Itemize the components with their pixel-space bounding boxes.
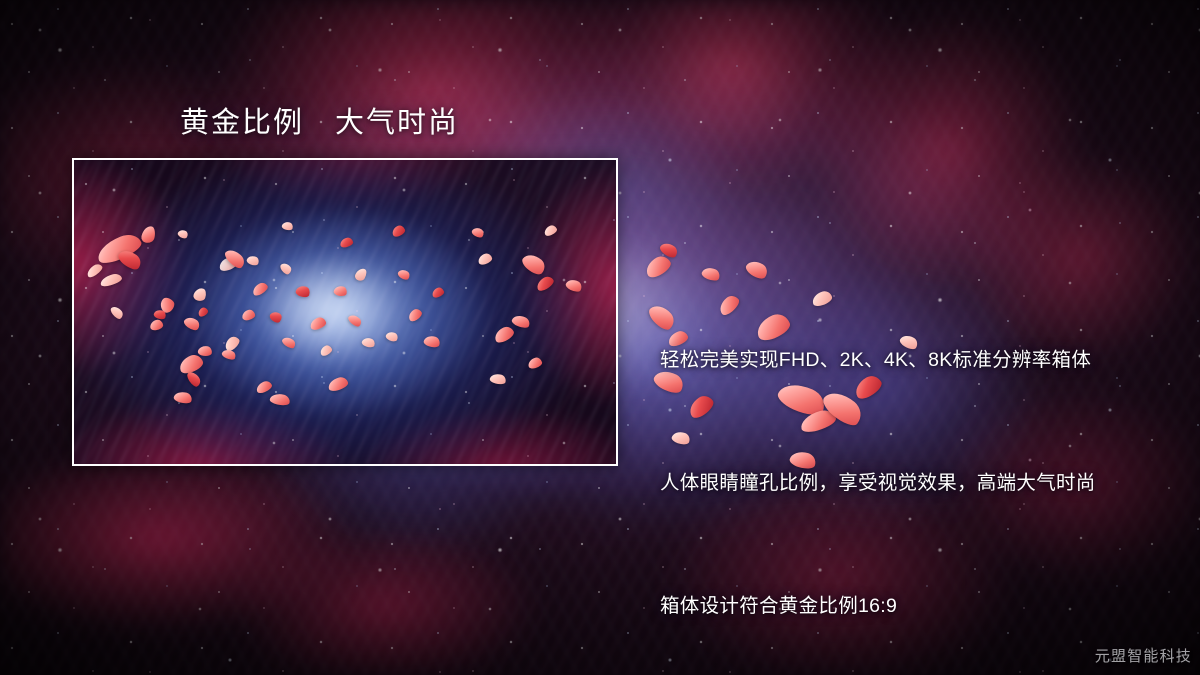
panel-core-glow: [74, 160, 616, 464]
body-line-3: 箱体设计符合黄金比例16:9: [660, 586, 1096, 627]
watermark: 元盟智能科技: [1095, 645, 1192, 666]
body-line-2: 人体眼睛瞳孔比例，享受视觉效果，高端大气时尚: [660, 463, 1096, 504]
presentation-slide: 黄金比例 大气时尚 轻松完美实现FHD、2K、4K、8K标准分辨率箱体 人体眼睛…: [0, 0, 1200, 675]
panel-photo: [74, 160, 616, 464]
slide-title: 黄金比例 大气时尚: [180, 99, 459, 141]
body-line-1: 轻松完美实现FHD、2K、4K、8K标准分辨率箱体: [660, 340, 1096, 381]
body-copy: 轻松完美实现FHD、2K、4K、8K标准分辨率箱体 人体眼睛瞳孔比例，享受视觉效…: [660, 258, 1096, 675]
framed-image-panel[interactable]: [72, 158, 618, 466]
